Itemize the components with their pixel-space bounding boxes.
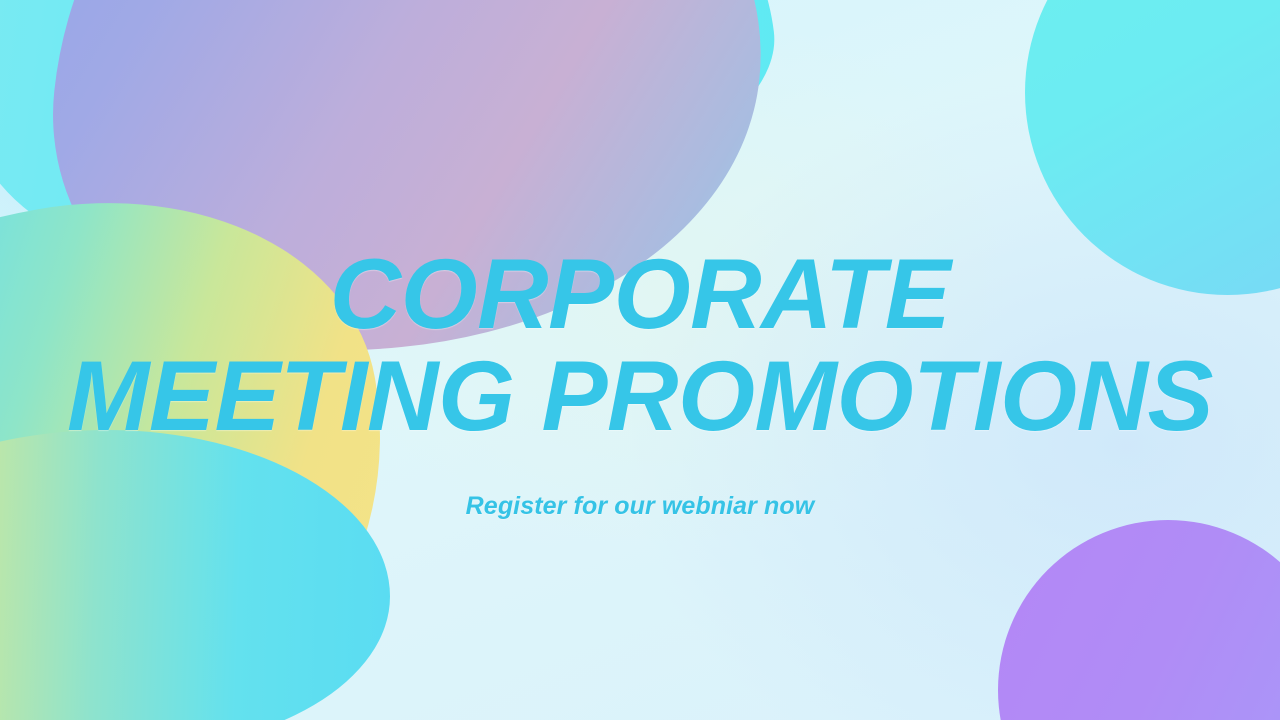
subtitle: Register for our webniar now bbox=[466, 492, 815, 521]
headline-line-2: MEETING PROMOTIONS bbox=[67, 347, 1213, 445]
slide-content: CORPORATE MEETING PROMOTIONS Register fo… bbox=[0, 0, 1280, 720]
headline-line-1: CORPORATE bbox=[67, 245, 1213, 343]
promotional-slide: CORPORATE MEETING PROMOTIONS Register fo… bbox=[0, 0, 1280, 720]
page-title: CORPORATE MEETING PROMOTIONS bbox=[67, 245, 1213, 445]
